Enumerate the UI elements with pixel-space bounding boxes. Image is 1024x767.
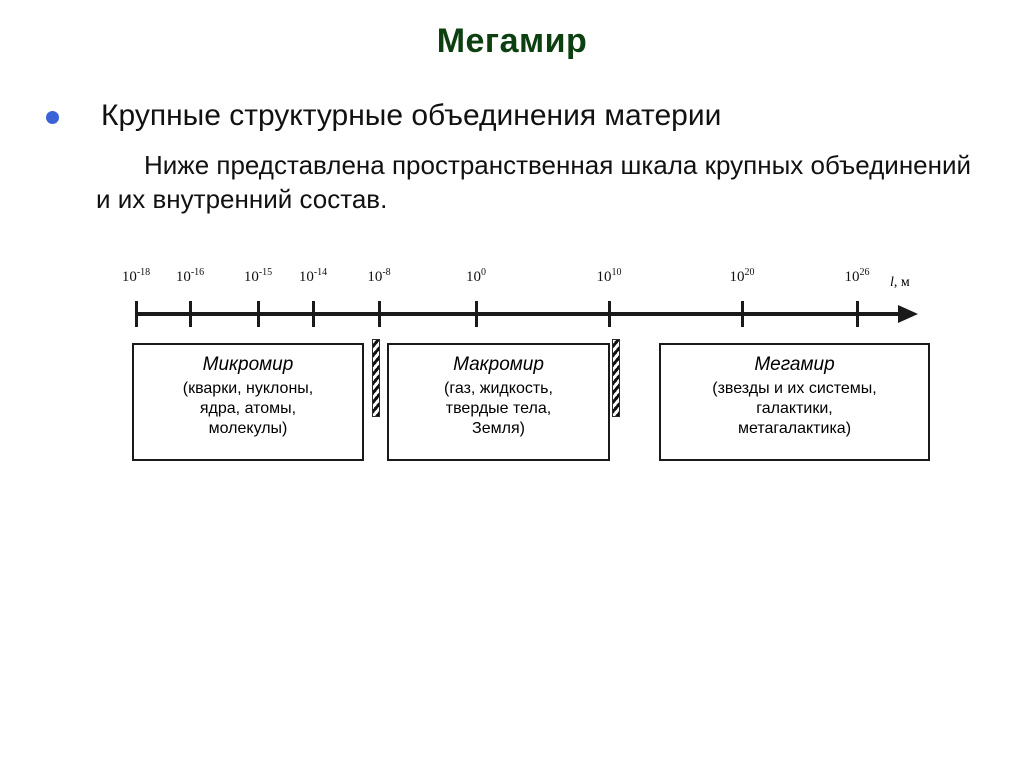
- region-contents: (газ, жидкость, твердые тела, Земля): [389, 379, 608, 439]
- axis-tick: [608, 301, 611, 327]
- axis-tick-label: 10-16: [176, 269, 204, 286]
- scale-diagram: 10-1810-1610-1510-1410-8100101010201026 …: [0, 255, 1024, 485]
- axis-tick-label: 10-18: [122, 269, 150, 286]
- axis-label-unit: , м: [894, 275, 910, 290]
- axis-tick-label: 1026: [845, 269, 870, 286]
- bullet-item-label: Крупные структурные объединения материи: [101, 98, 721, 134]
- axis-line: [136, 312, 901, 316]
- region-box-micro: Микромир(кварки, нуклоны, ядра, атомы, м…: [132, 343, 364, 461]
- axis-tick-label: 10-14: [299, 269, 327, 286]
- region-title: Мегамир: [661, 353, 928, 377]
- axis-tick-label: 10-15: [244, 269, 272, 286]
- axis-tick: [856, 301, 859, 327]
- axis-tick: [312, 301, 315, 327]
- hatched-separator-micro-macro-boundary: [372, 339, 380, 417]
- axis-tick: [189, 301, 192, 327]
- hatched-separator-macro-mega-boundary: [612, 339, 620, 417]
- region-box-macro: Макромир(газ, жидкость, твердые тела, Зе…: [387, 343, 610, 461]
- axis-tick-label: 10-8: [367, 269, 390, 286]
- page-title: Мегамир: [0, 22, 1024, 61]
- region-contents: (кварки, нуклоны, ядра, атомы, молекулы): [134, 379, 362, 439]
- axis-tick: [135, 301, 138, 327]
- axis-label: l, м: [890, 275, 910, 291]
- axis-tick-label: 1020: [730, 269, 755, 286]
- bullet-dot-icon: [46, 111, 59, 124]
- bullet-list-item: Крупные структурные объединения материи: [46, 98, 986, 134]
- region-box-mega: Мегамир(звезды и их системы, галактики, …: [659, 343, 930, 461]
- body-paragraph: Ниже представлена пространственная шкала…: [96, 148, 976, 216]
- region-title: Микромир: [134, 353, 362, 377]
- axis-tick: [741, 301, 744, 327]
- axis-arrow-icon: [898, 305, 918, 323]
- axis-tick: [378, 301, 381, 327]
- region-contents: (звезды и их системы, галактики, метагал…: [661, 379, 928, 439]
- region-title: Макромир: [389, 353, 608, 377]
- axis-tick: [257, 301, 260, 327]
- axis-tick-label: 100: [466, 269, 486, 286]
- axis-tick: [475, 301, 478, 327]
- axis-tick-label: 1010: [597, 269, 622, 286]
